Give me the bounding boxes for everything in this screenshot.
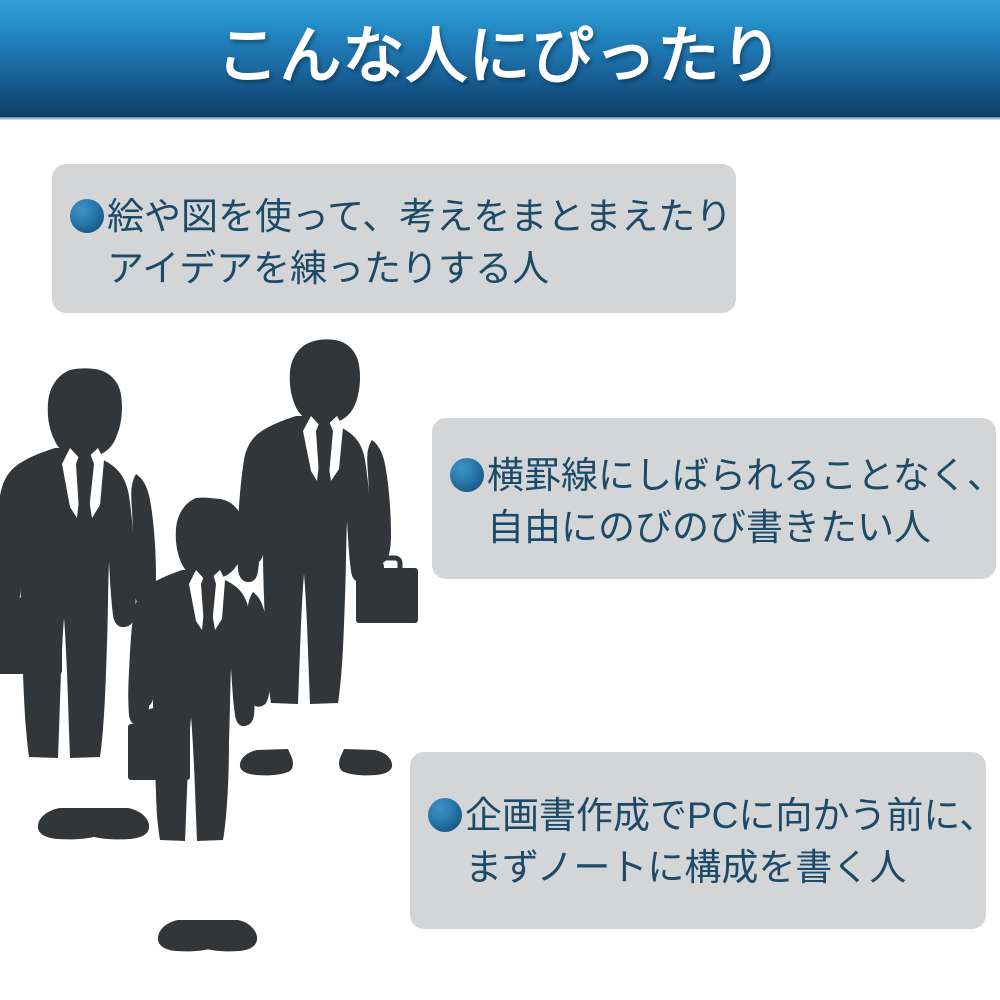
filled-circle-icon: [428, 798, 462, 832]
callout-box-1: 絵や図を使って、考えをまとまえたり アイデアを練ったりする人: [52, 164, 736, 313]
callout-box-3: 企画書作成でPCに向かう前に、 まずノートに構成を書く人: [410, 752, 986, 929]
callout-3-line-1: 企画書作成でPCに向かう前に、: [428, 790, 986, 842]
businessman-right-silhouette: [237, 339, 418, 775]
callout-1-text: 絵や図を使って、考えをまとまえたり アイデアを練ったりする人: [70, 191, 736, 295]
callout-3-line-2: まずノートに構成を書く人: [428, 842, 986, 894]
callout-2-line-1: 横罫線にしばられることなく、: [450, 450, 996, 502]
page-title: こんな人にぴったり: [0, 17, 1000, 97]
filled-circle-icon: [450, 458, 484, 492]
callout-1-line-1: 絵や図を使って、考えをまとまえたり: [70, 191, 736, 243]
callout-2-text: 横罫線にしばられることなく、 自由にのびのび書きたい人: [450, 450, 996, 554]
callout-1-line-2: アイデアを練ったりする人: [70, 243, 736, 295]
businessmen-silhouettes-illustration: [0, 320, 450, 1000]
filled-circle-icon: [70, 199, 104, 233]
promo-banner-page: こんな人にぴったり: [0, 0, 1000, 1000]
callout-box-2: 横罫線にしばられることなく、 自由にのびのび書きたい人: [432, 418, 996, 579]
header-underline-divider: [0, 117, 1000, 120]
callout-3-text: 企画書作成でPCに向かう前に、 まずノートに構成を書く人: [428, 790, 986, 894]
callout-2-line-2: 自由にのびのび書きたい人: [450, 502, 996, 554]
